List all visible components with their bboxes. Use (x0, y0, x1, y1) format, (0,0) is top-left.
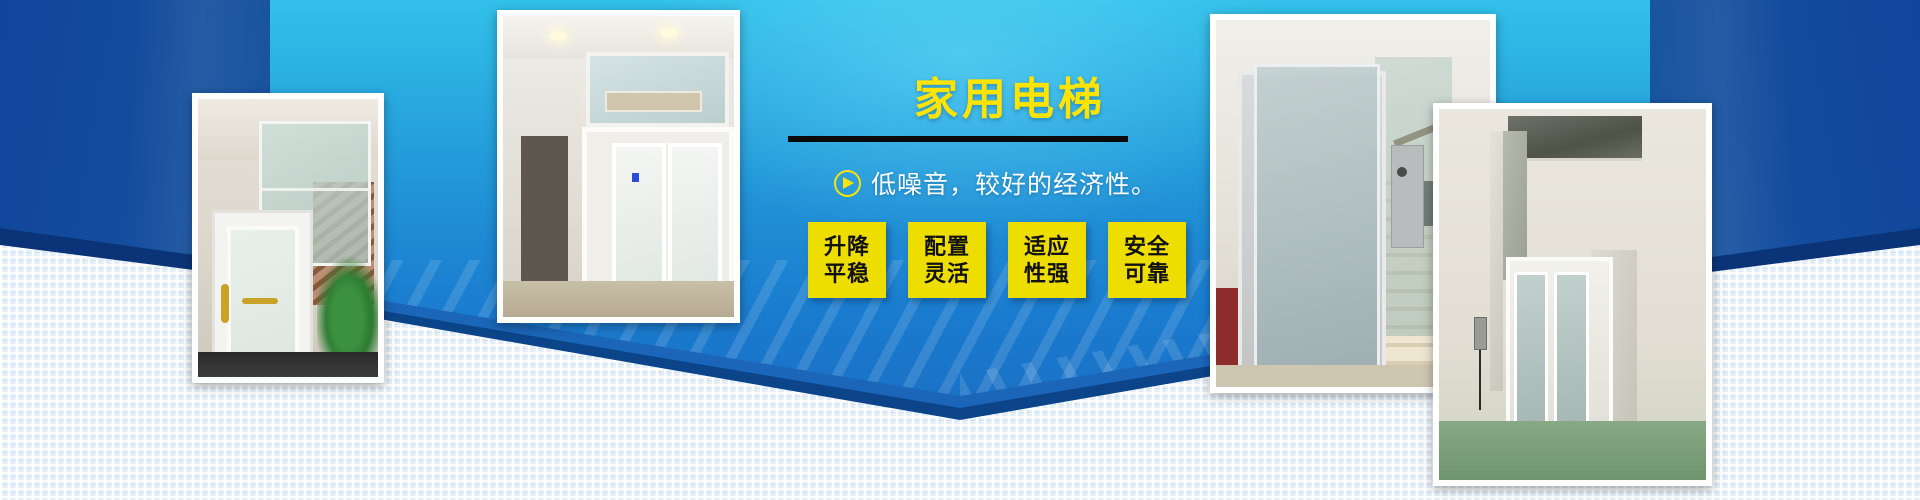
circled-play-arrow-icon (834, 170, 861, 197)
control-panel (1391, 145, 1424, 248)
call-button (1397, 167, 1407, 177)
banner-text-block: 家用电梯 低噪音，较好的经济性。 升降 平稳 配置 灵活 适应 性强 安全 可靠 (800, 0, 1220, 400)
badge-line-2: 可靠 (1124, 260, 1170, 288)
scene-hallway-elevator (198, 99, 378, 377)
door-handle-horizontal (242, 298, 278, 304)
feature-badge-list: 升降 平稳 配置 灵活 适应 性强 安全 可靠 (808, 222, 1186, 298)
photo-elevator-hallway-glass-shaft (192, 93, 384, 383)
photo-inner (198, 99, 378, 377)
feature-badge[interactable]: 配置 灵活 (908, 222, 986, 298)
wall-control-box (1474, 317, 1487, 350)
floor-indicator (632, 173, 639, 182)
feature-badge[interactable]: 安全 可靠 (1108, 222, 1186, 298)
badge-line-2: 平稳 (824, 260, 870, 288)
feature-badge[interactable]: 适应 性强 (1008, 222, 1086, 298)
ceiling-opening (1508, 116, 1642, 161)
scene-installation-room (1439, 109, 1706, 480)
photo-inner (1439, 109, 1706, 480)
badge-line-1: 升降 (824, 233, 870, 261)
shaft-column-front (1490, 131, 1503, 391)
cabin-door (227, 226, 299, 368)
tagline: 低噪音，较好的经济性。 (834, 165, 1234, 201)
green-epoxy-floor (1439, 421, 1706, 480)
floor-strip (198, 352, 378, 377)
badge-line-1: 配置 (924, 233, 970, 261)
hanging-cable (1479, 350, 1481, 409)
badge-line-1: 适应 (1024, 233, 1070, 261)
tagline-text: 低噪音，较好的经济性。 (871, 165, 1157, 201)
door-handle-vertical (221, 284, 229, 323)
floor-strip (503, 281, 734, 317)
glass-cabin-door (1254, 64, 1380, 372)
dark-doorway (521, 136, 567, 280)
badge-line-2: 性强 (1024, 260, 1070, 288)
photo-elevator-modern-lobby (497, 10, 740, 323)
home-elevator-promo-banner: 家用电梯 低噪音，较好的经济性。 升降 平稳 配置 灵活 适应 性强 安全 可靠 (0, 0, 1920, 500)
scene-modern-lobby (503, 16, 734, 317)
photo-elevator-installation-bare-room (1433, 103, 1712, 486)
page-title: 家用电梯 (810, 78, 1210, 122)
feature-badge[interactable]: 升降 平稳 (808, 222, 886, 298)
title-divider (788, 136, 1128, 142)
glass-shaft-upper (586, 52, 729, 127)
photo-inner (503, 16, 734, 317)
hoist-machinery (605, 91, 702, 112)
badge-line-2: 灵活 (924, 260, 970, 288)
badge-line-1: 安全 (1124, 233, 1170, 261)
